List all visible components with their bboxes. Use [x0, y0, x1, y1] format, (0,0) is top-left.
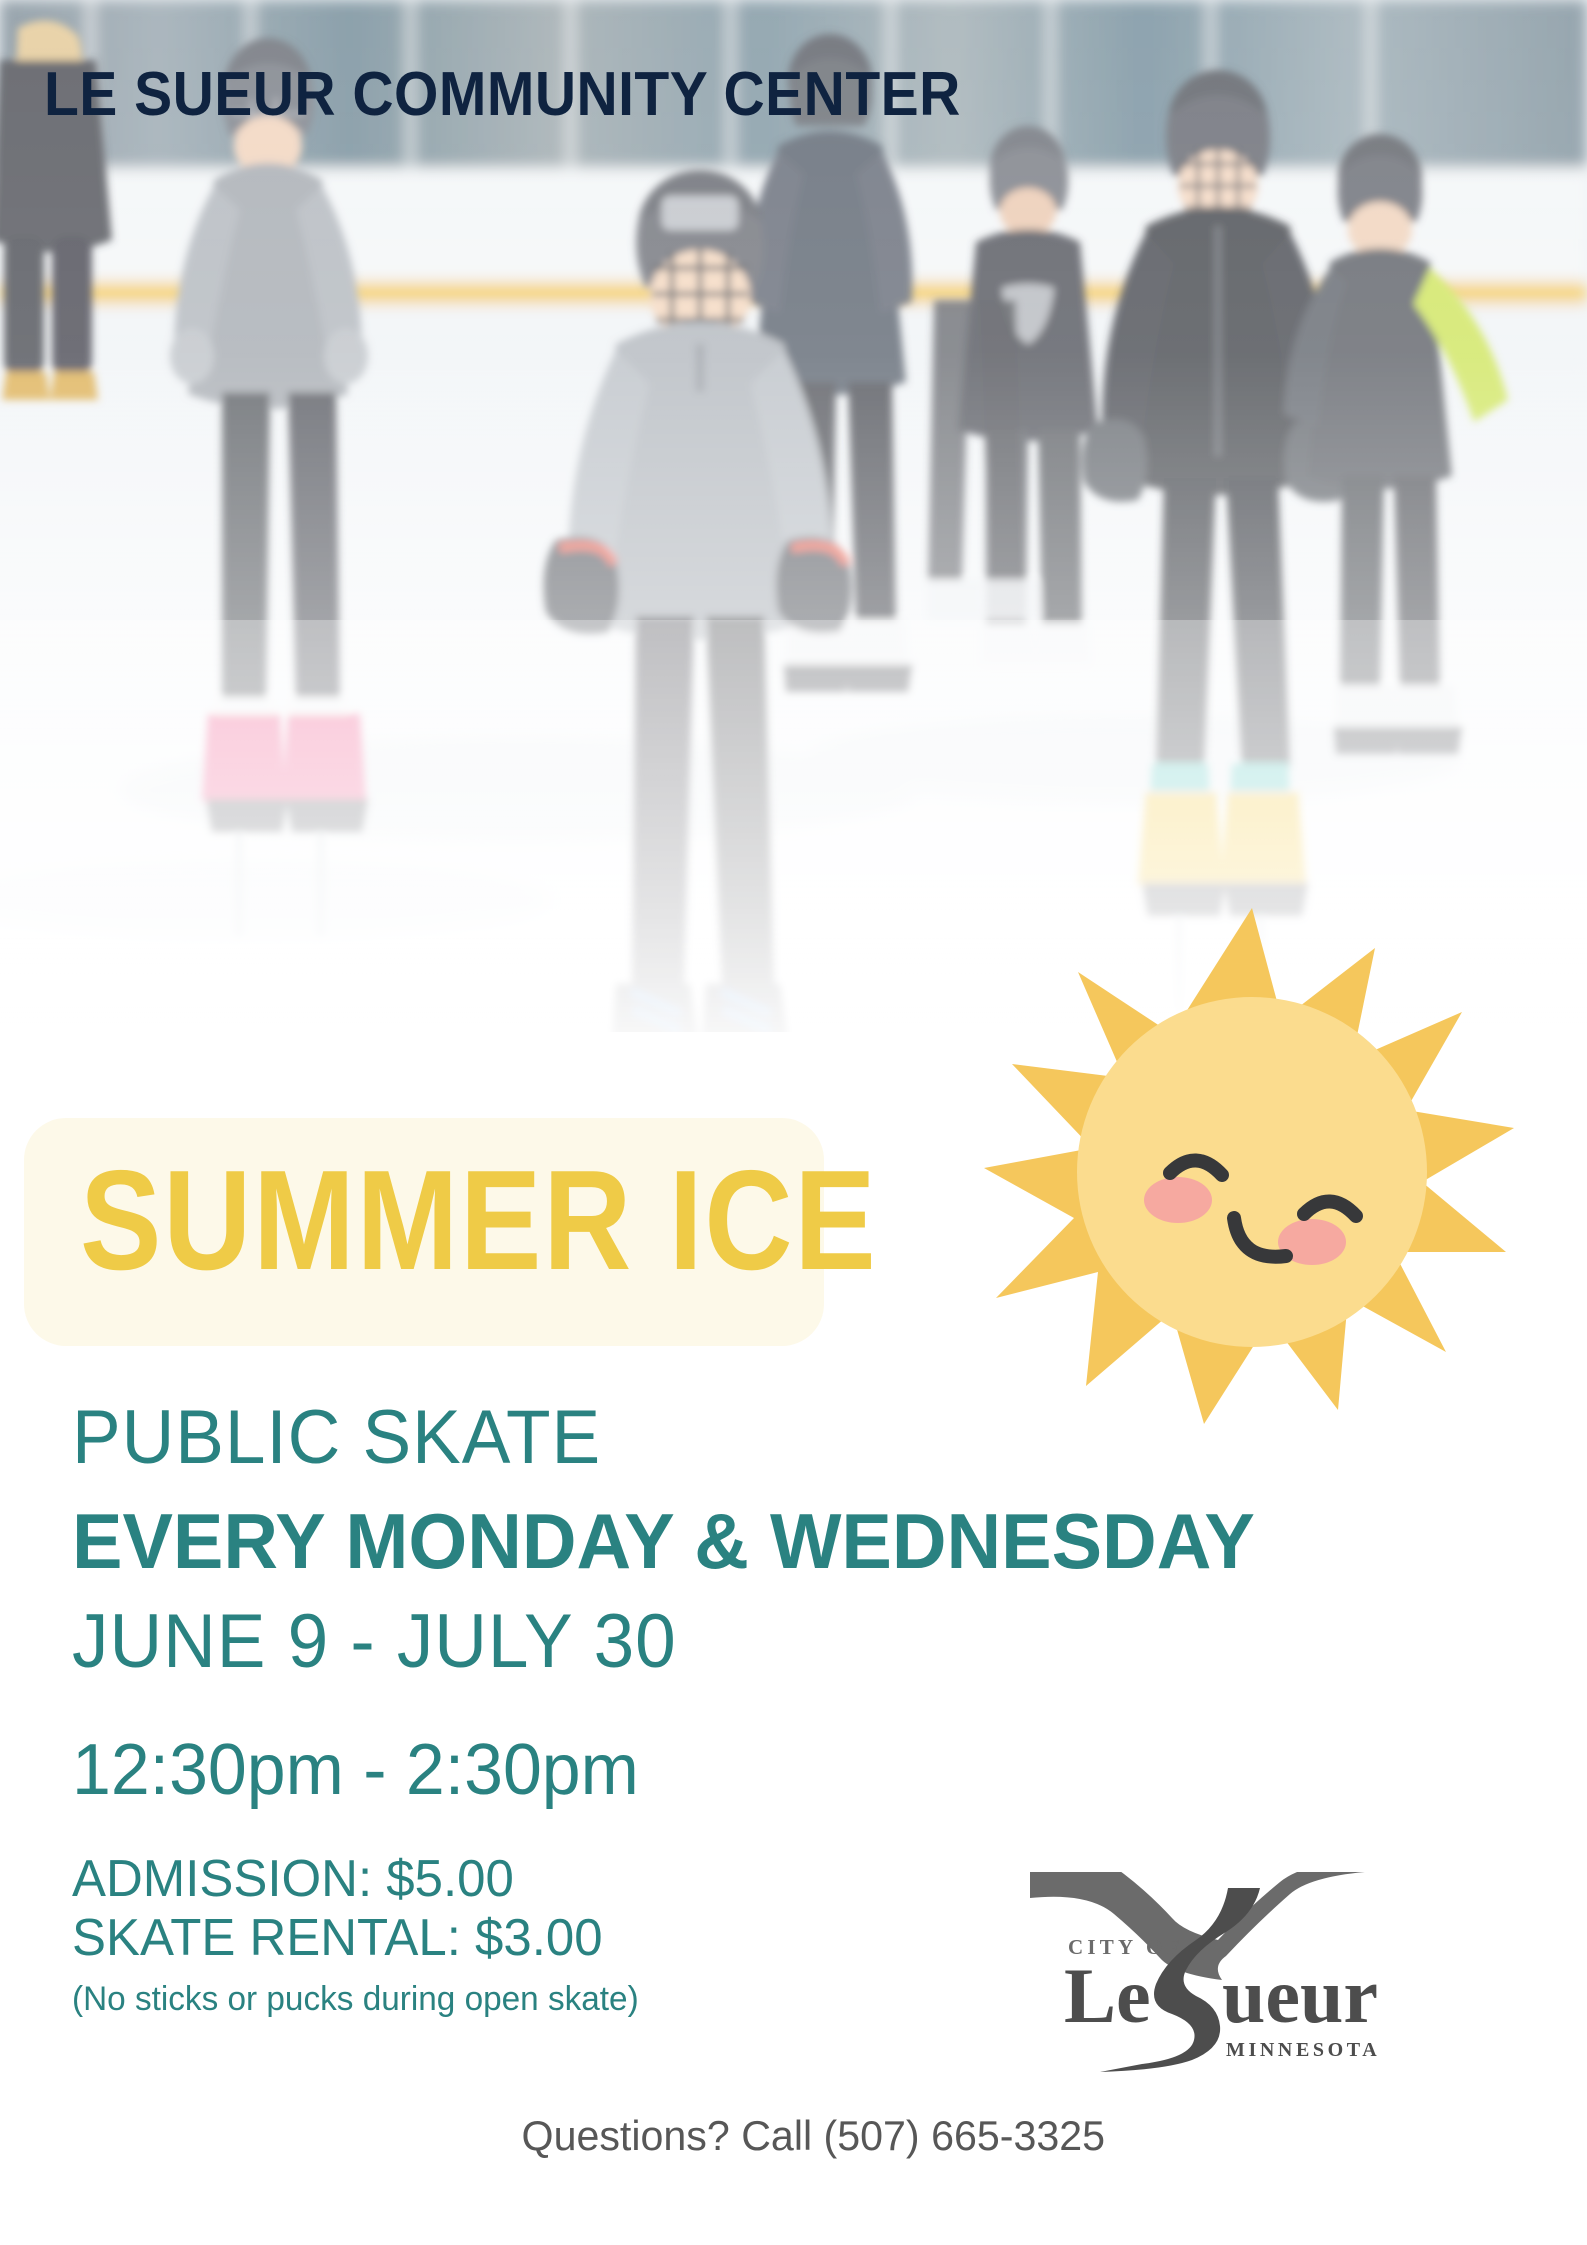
rink-photo-illustration — [0, 0, 1587, 1032]
sun-icon — [982, 900, 1522, 1440]
date-range-label: JUNE 9 - JULY 30 — [72, 1604, 1243, 1680]
page-title: LE SUEUR COMMUNITY CENTER — [44, 64, 961, 126]
footer: Questions? Call (507) 665-3325 — [0, 2112, 1587, 2160]
logo-le-text: Le — [1064, 1952, 1151, 2039]
logo-minnesota-text: MINNESOTA — [1226, 2039, 1380, 2061]
hero-photo — [0, 0, 1587, 1032]
time-range-label: 12:30pm - 2:30pm — [72, 1734, 1255, 1806]
smiling-sun-illustration — [982, 900, 1522, 1440]
schedule-days-label: EVERY MONDAY & WEDNESDAY — [72, 1502, 1255, 1580]
city-of-le-sueur-logo: CITY OF Le ueur MINNESOTA — [1022, 1872, 1442, 2072]
poster-canvas: LE SUEUR COMMUNITY CENTER SUMMER ICE PUB… — [0, 0, 1587, 2245]
le-sueur-logo-mark: CITY OF Le ueur MINNESOTA — [1022, 1872, 1442, 2072]
logo-sueur-text: ueur — [1222, 1952, 1378, 2039]
summer-ice-headline: SUMMER ICE — [80, 1130, 877, 1312]
contact-phone-label: Questions? Call (507) 665-3325 — [521, 2112, 1104, 2160]
